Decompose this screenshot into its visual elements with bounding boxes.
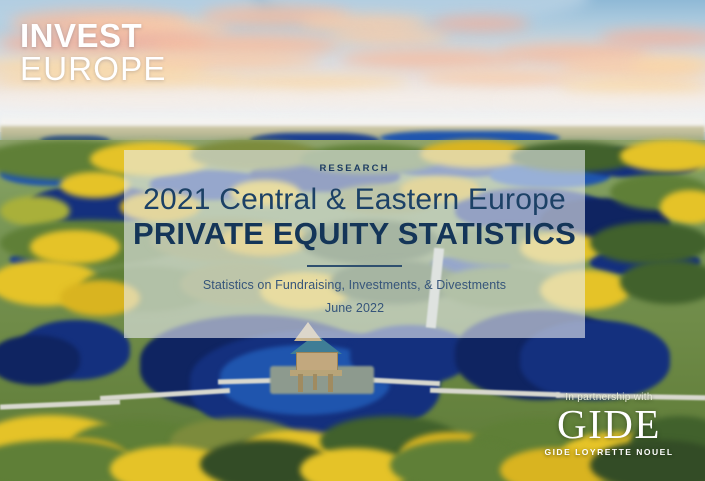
invest-europe-logo[interactable]: INVEST EUROPE (20, 20, 167, 86)
research-label: RESEARCH (124, 163, 585, 174)
report-title-secondary: PRIVATE EQUITY STATISTICS (124, 217, 585, 252)
report-title-primary: 2021 Central & Eastern Europe (124, 184, 585, 216)
logo-line-europe: EUROPE (20, 53, 167, 85)
report-cover: INVEST EUROPE RESEARCH 2021 Central & Ea… (0, 0, 705, 481)
partner-logo-block[interactable]: In partnership with GIDE GIDE LOYRETTE N… (520, 392, 698, 457)
cloud (420, 70, 580, 86)
title-divider (307, 265, 402, 267)
boardwalk (0, 399, 120, 409)
cloud (500, 94, 705, 110)
cloud (430, 16, 530, 31)
report-subtitle: Statistics on Fundraising, Investments, … (124, 278, 585, 292)
title-panel: RESEARCH 2021 Central & Eastern Europe P… (124, 150, 585, 338)
tower-leg (328, 374, 333, 392)
cloud (600, 30, 705, 46)
cloud (0, 90, 300, 108)
logo-line-invest: INVEST (20, 20, 167, 52)
foliage (620, 260, 705, 304)
foliage (590, 222, 705, 264)
cloud (210, 76, 410, 90)
publication-date: June 2022 (124, 301, 585, 315)
cloud (340, 50, 520, 68)
cloud (330, 28, 450, 44)
gide-logo-wordmark: GIDE (520, 404, 698, 446)
foliage (60, 172, 130, 198)
tower-leg (313, 374, 317, 390)
foliage (30, 230, 120, 264)
gide-logo-full-name: GIDE LOYRETTE NOUEL (520, 447, 698, 457)
tower-leg (298, 374, 303, 392)
lake (0, 335, 80, 385)
